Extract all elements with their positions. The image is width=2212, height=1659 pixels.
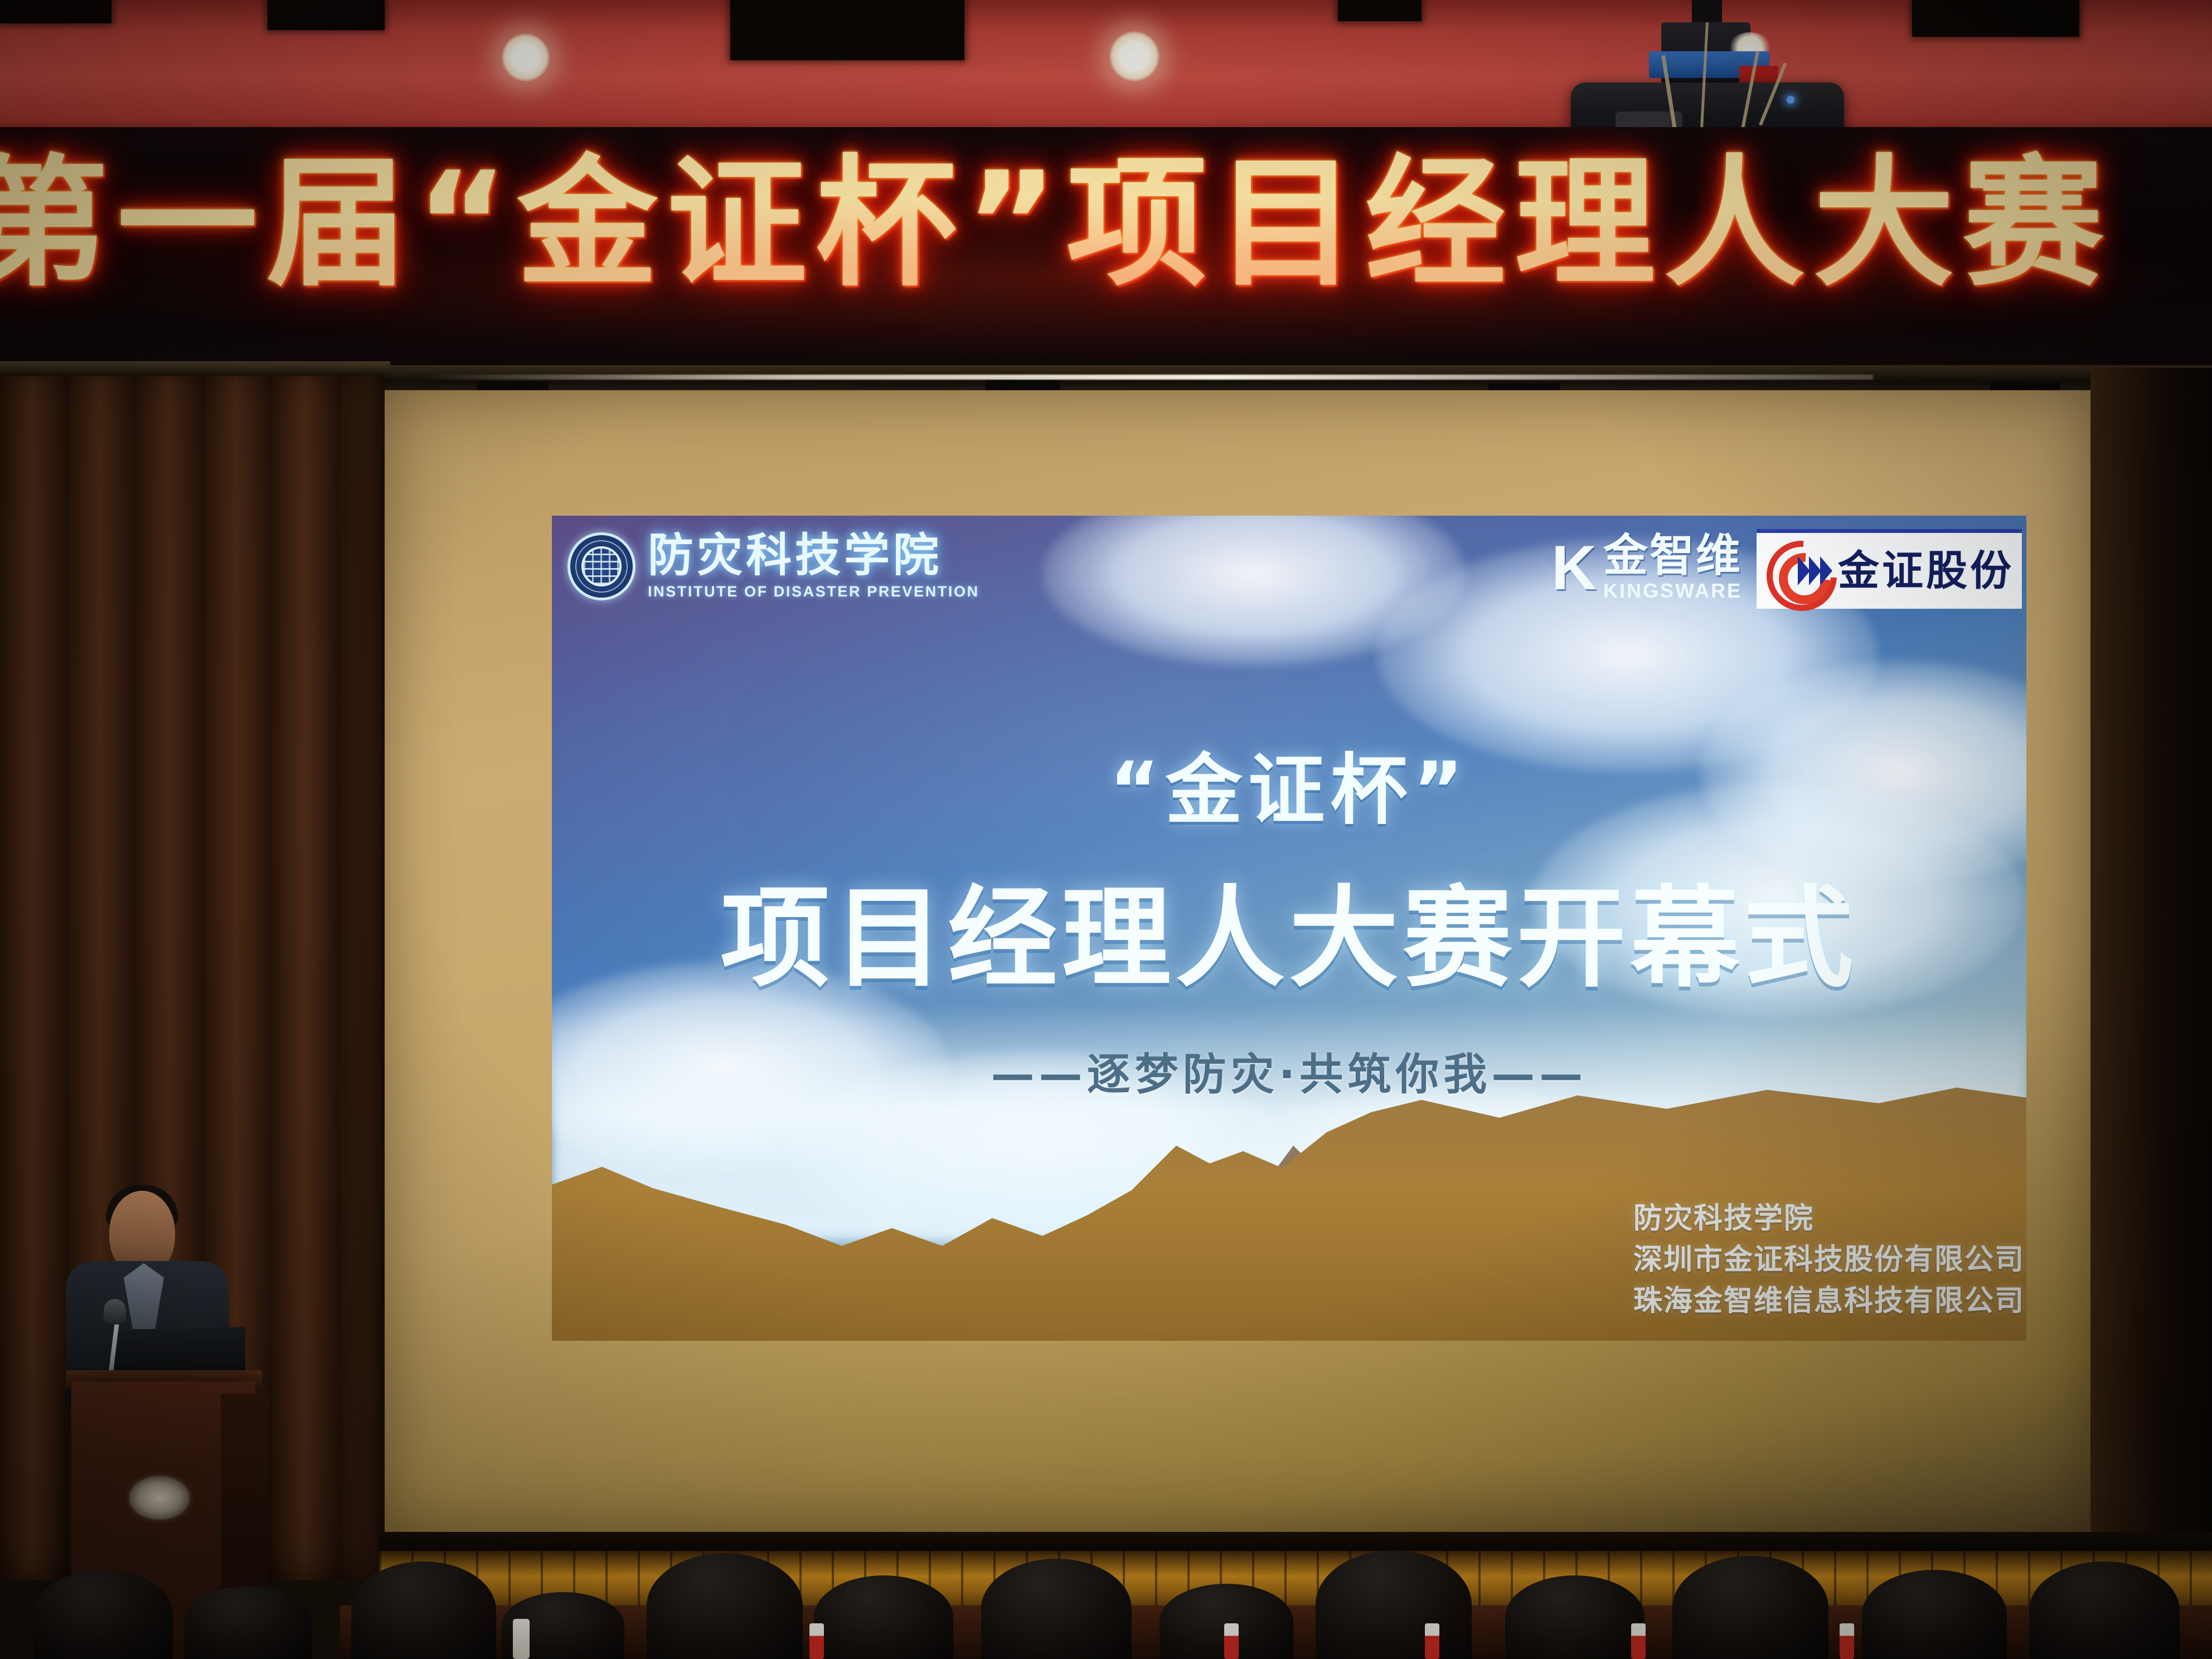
- ceiling-vent: [1912, 0, 2079, 37]
- slide-title: 项目经理人大赛开幕式: [552, 850, 2026, 1008]
- audience-head: [647, 1553, 803, 1659]
- logo-kingsware: K 金智维 KINGSWARE: [1549, 529, 1757, 607]
- logo-institute-of-disaster-prevention: 防灾科技学院 INSTITUTE OF DISASTER PREVENTION: [567, 532, 979, 600]
- podium-crest-emblem: [129, 1476, 190, 1520]
- kingsware-chinese-name: 金智维: [1603, 533, 1742, 578]
- ceiling-vent: [268, 0, 385, 30]
- audience-head: [1505, 1575, 1645, 1659]
- kingsware-english-name: KINGSWARE: [1603, 579, 1742, 603]
- ceiling-vent: [1338, 0, 1422, 21]
- audience-head: [1672, 1556, 1828, 1659]
- audience-head: [2029, 1561, 2180, 1659]
- led-banner: 第一届“金证杯”项目经理人大赛: [0, 127, 2212, 368]
- ceiling-downlight: [502, 33, 550, 81]
- water-bottle: [1631, 1623, 1646, 1659]
- water-bottle: [809, 1623, 824, 1659]
- audience-head: [981, 1559, 1132, 1659]
- organizer-line: 防灾科技学院: [1633, 1199, 2025, 1240]
- audience-head: [33, 1570, 173, 1659]
- water-bottle: [1840, 1623, 1854, 1659]
- ceiling-vent: [730, 0, 964, 60]
- curtain-rod: [0, 361, 390, 376]
- ceiling-downlight: [1109, 31, 1160, 81]
- audience-head: [1862, 1570, 2007, 1659]
- organizer-line: 珠海金智维信息科技有限公司: [1633, 1281, 2025, 1322]
- globe-seal-icon: [567, 532, 636, 600]
- sponsor-logos: K 金智维 KINGSWARE 金证股份: [1549, 529, 2022, 609]
- water-bottle: [513, 1619, 530, 1659]
- stage-curtain-right: [2090, 368, 2212, 1583]
- projector-status-led: [1787, 96, 1794, 104]
- beam-highlight: [424, 375, 1873, 380]
- audience-head: [184, 1587, 312, 1659]
- ceiling-vent: [0, 0, 111, 23]
- organizer-line: 深圳市金证科技股份有限公司: [1633, 1240, 2025, 1281]
- jinzheng-c-chevron-icon: [1767, 541, 1832, 601]
- audience-head: [351, 1561, 496, 1659]
- kingsware-k-mark: K: [1551, 542, 1597, 594]
- banner-text: 第一届“金证杯”项目经理人大赛: [0, 154, 2112, 294]
- logo-jinzheng: 金证股份: [1757, 529, 2022, 609]
- slide-kicker: “金证杯”: [552, 727, 2026, 839]
- audience-head: [814, 1575, 953, 1659]
- jinzheng-chinese-name: 金证股份: [1838, 550, 2014, 591]
- idp-english-name: INSTITUTE OF DISASTER PREVENTION: [648, 583, 979, 600]
- auditorium-photo: 第一届“金证杯”项目经理人大赛: [0, 0, 2212, 1659]
- water-bottle: [1224, 1623, 1239, 1659]
- organizer-list: 防灾科技学院 深圳市金证科技股份有限公司 珠海金智维信息科技有限公司: [1633, 1199, 2025, 1322]
- idp-chinese-name: 防灾科技学院: [648, 533, 979, 579]
- slide-tagline: ——逐梦防灾·共筑你我——: [552, 1040, 2026, 1102]
- microphone-head: [104, 1299, 126, 1325]
- water-bottle: [1425, 1623, 1439, 1659]
- audience-head: [1316, 1550, 1472, 1659]
